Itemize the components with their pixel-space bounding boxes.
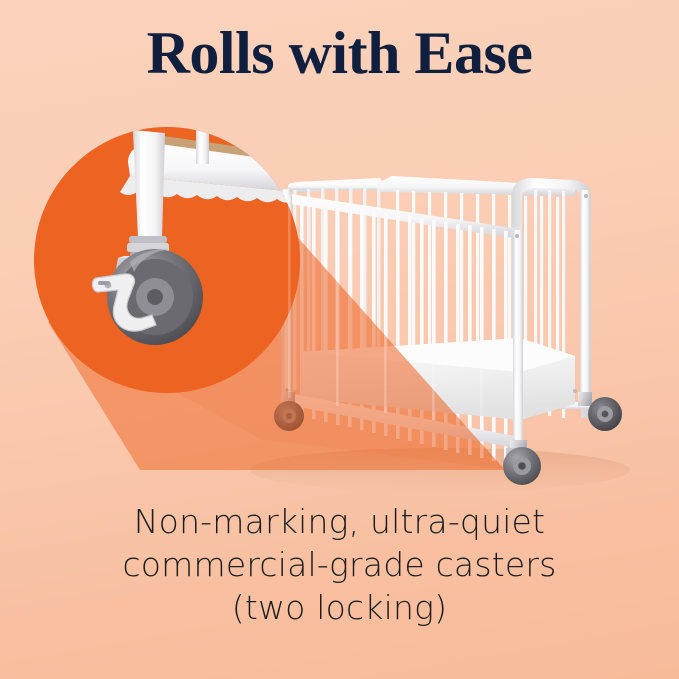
crib-leg-front-right xyxy=(513,230,523,458)
zoom-caster-hub-center xyxy=(147,289,163,305)
caster-closeup-circle xyxy=(34,127,300,393)
product-feature-card: Rolls with Ease Non-marking, ultra-quiet… xyxy=(0,0,679,679)
zoom-slat-stub xyxy=(196,128,209,164)
caption-line-2: commercial-grade casters xyxy=(0,543,679,586)
crib-leg-rear-right xyxy=(580,190,590,402)
feature-caption: Non-marking, ultra-quiet commercial-grad… xyxy=(0,500,679,629)
zoom-leg-highlight xyxy=(140,136,146,236)
caption-line-3: (two locking) xyxy=(0,586,679,629)
page-title: Rolls with Ease xyxy=(0,22,679,85)
zoom-crib-leg xyxy=(133,130,165,238)
crib-front-top-rail xyxy=(283,193,520,239)
caption-line-1: Non-marking, ultra-quiet xyxy=(0,500,679,543)
zoom-lock-lever-slot xyxy=(98,281,110,285)
zoom-caster-collar-1 xyxy=(129,236,167,243)
